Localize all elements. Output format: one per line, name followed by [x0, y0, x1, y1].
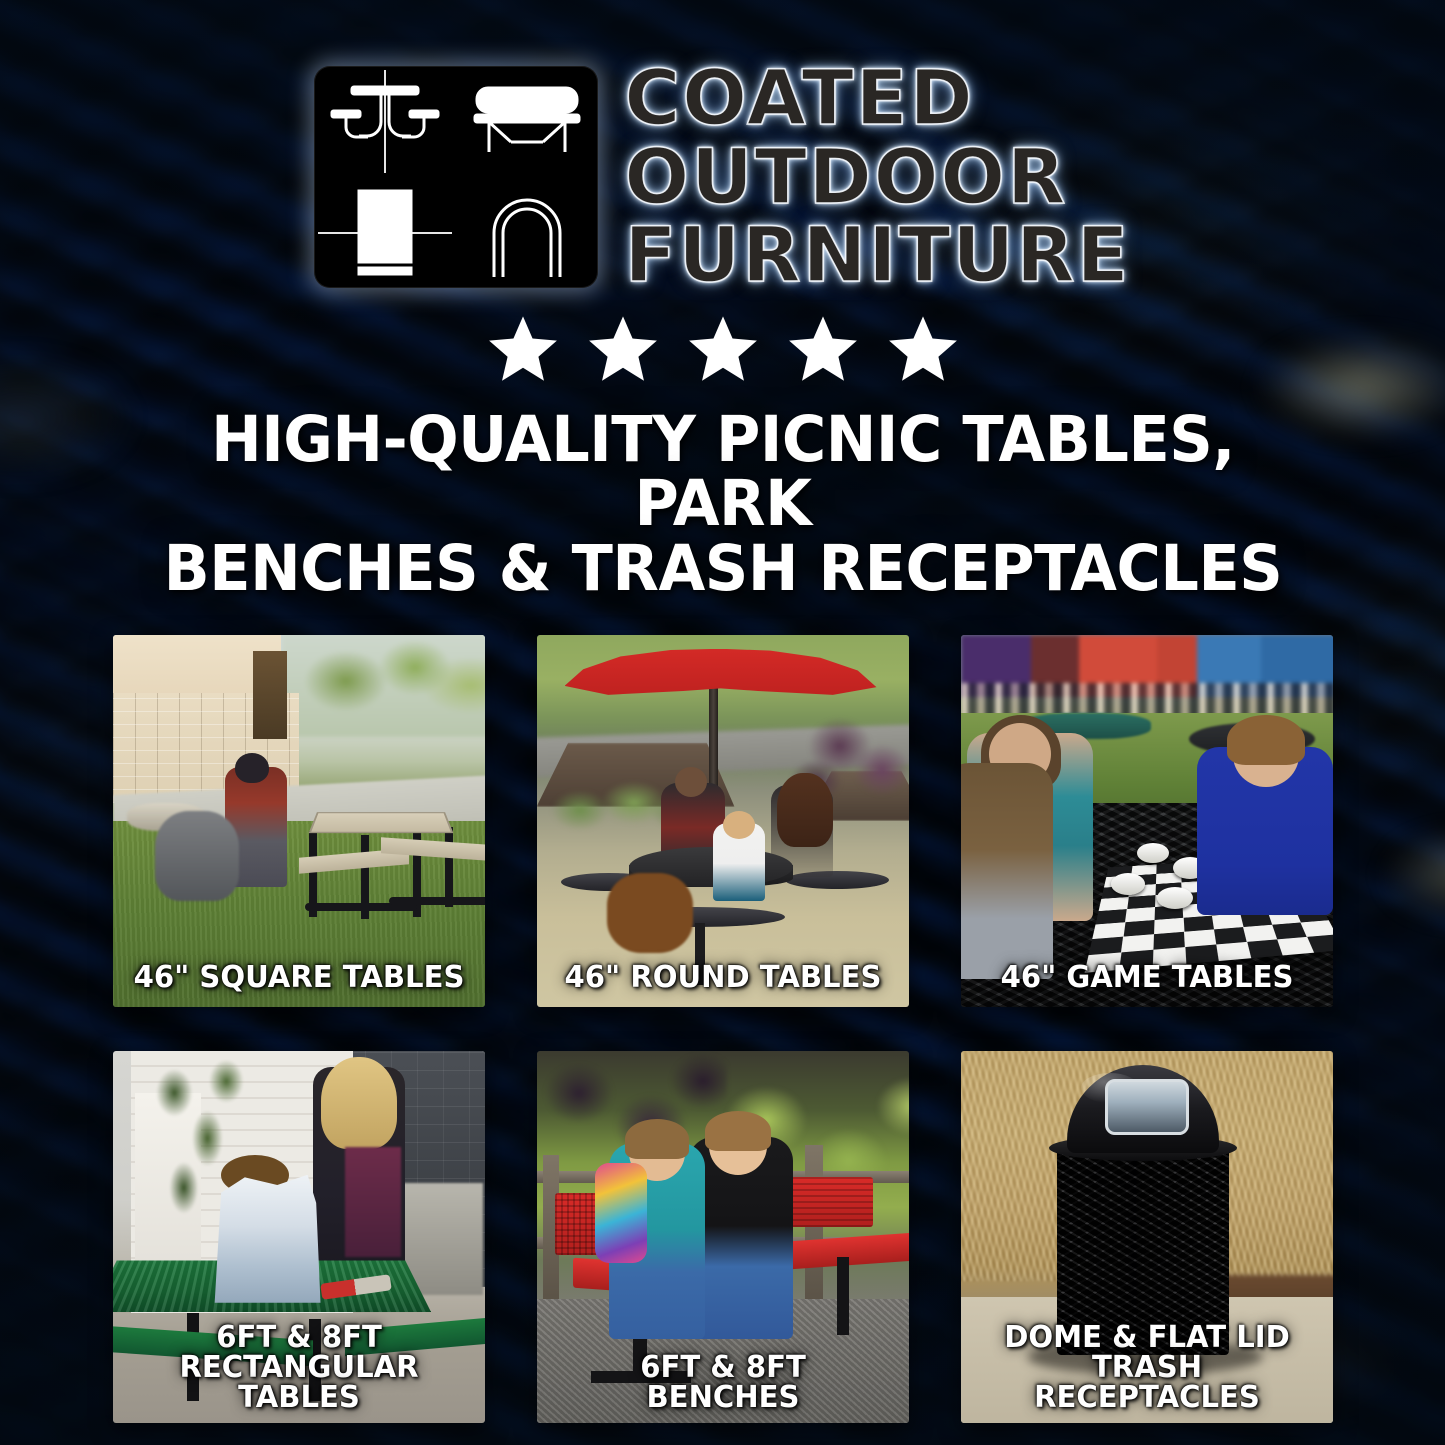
star-icon: [485, 312, 561, 386]
product-tile-rectangular-tables[interactable]: 6FT & 8FT RECTANGULAR TABLES: [113, 1051, 485, 1423]
brand-line-2: OUTDOOR: [624, 141, 1130, 214]
bike-rack-icon: [456, 177, 598, 288]
product-caption-rectangular-tables: 6FT & 8FT RECTANGULAR TABLES: [118, 1323, 479, 1413]
product-grid: 46" SQUARE TABLES: [110, 635, 1335, 1423]
product-caption-round-tables: 46" ROUND TABLES: [542, 963, 903, 993]
caption-line: 6FT & 8FT: [550, 1353, 895, 1383]
product-tile-square-tables[interactable]: 46" SQUARE TABLES: [113, 635, 485, 1007]
product-tile-game-tables[interactable]: 46" GAME TABLES: [961, 635, 1333, 1007]
product-caption-benches: 6FT & 8FT BENCHES: [542, 1353, 903, 1413]
brand-logo: COATED OUTDOOR FURNITURE: [314, 60, 1130, 294]
caption-line: DOME & FLAT LID: [974, 1323, 1319, 1353]
trash-receptacle-icon: [314, 177, 456, 288]
caption-line: TRASH RECEPTACLES: [974, 1353, 1319, 1413]
star-icon: [685, 312, 761, 386]
star-icon: [585, 312, 661, 386]
bench-icon: [456, 66, 598, 177]
brand-line-3: FURNITURE: [624, 219, 1130, 292]
product-tile-trash-receptacles[interactable]: DOME & FLAT LID TRASH RECEPTACLES: [961, 1051, 1333, 1423]
product-photo-square-tables: [113, 635, 485, 1007]
caption-line: 6FT & 8FT: [126, 1323, 471, 1353]
headline-line-2: BENCHES & TRASH RECEPTACLES: [123, 537, 1323, 601]
star-icon: [885, 312, 961, 386]
caption-line: BENCHES: [550, 1383, 895, 1413]
star-icon: [785, 312, 861, 386]
picnic-table-icon: [314, 66, 456, 177]
product-tile-round-tables[interactable]: 46" ROUND TABLES: [537, 635, 909, 1007]
page-headline: HIGH-QUALITY PICNIC TABLES, PARK BENCHES…: [123, 408, 1323, 601]
headline-line-1: HIGH-QUALITY PICNIC TABLES, PARK: [123, 408, 1323, 537]
product-tile-benches[interactable]: 6FT & 8FT BENCHES: [537, 1051, 909, 1423]
star-rating: [485, 312, 961, 386]
product-caption-trash-receptacles: DOME & FLAT LID TRASH RECEPTACLES: [966, 1323, 1327, 1413]
caption-line: 46" ROUND TABLES: [550, 963, 895, 993]
caption-line: 46" GAME TABLES: [974, 963, 1319, 993]
product-caption-game-tables: 46" GAME TABLES: [966, 963, 1327, 993]
logo-icon-grid: [314, 66, 598, 288]
caption-line: RECTANGULAR TABLES: [126, 1353, 471, 1413]
product-photo-game-tables: [961, 635, 1333, 1007]
product-caption-square-tables: 46" SQUARE TABLES: [118, 963, 479, 993]
brand-line-1: COATED: [624, 62, 1130, 135]
brand-wordmark: COATED OUTDOOR FURNITURE: [624, 62, 1130, 293]
product-photo-round-tables: [537, 635, 909, 1007]
caption-line: 46" SQUARE TABLES: [126, 963, 471, 993]
